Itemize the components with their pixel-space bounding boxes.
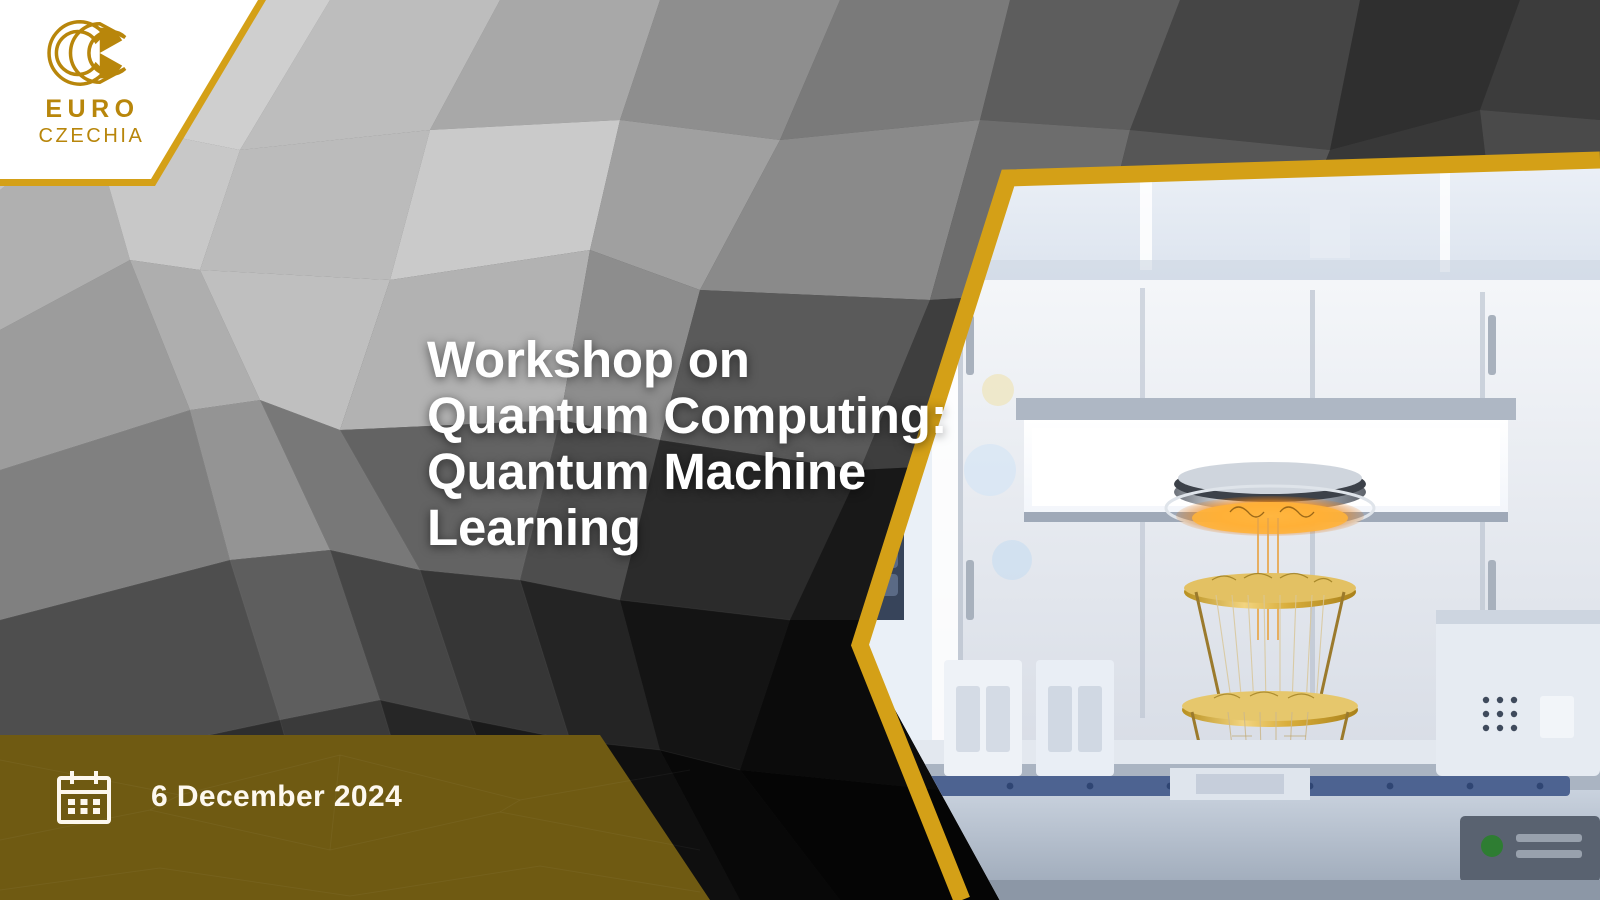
title-line-2: Quantum Computing: — [427, 388, 987, 444]
title-line-3: Quantum Machine — [427, 444, 987, 500]
event-banner: EURO CZECHIA — [0, 0, 1600, 900]
date-bar: 6 December 2024 — [0, 700, 760, 900]
logo-panel: EURO CZECHIA — [0, 0, 290, 200]
date-row: 6 December 2024 — [55, 768, 402, 826]
logo-text-euro: EURO — [0, 96, 180, 124]
logo-text-czechia: CZECHIA — [0, 124, 180, 149]
logo-lockup: EURO CZECHIA — [0, 14, 180, 149]
title-line-1: Workshop on — [427, 332, 987, 388]
event-title: Workshop on Quantum Computing: Quantum M… — [427, 332, 987, 556]
calendar-icon — [55, 768, 113, 826]
double-c-monogram-icon — [30, 14, 150, 92]
title-line-4: Learning — [427, 500, 987, 556]
event-date-text: 6 December 2024 — [151, 780, 402, 814]
